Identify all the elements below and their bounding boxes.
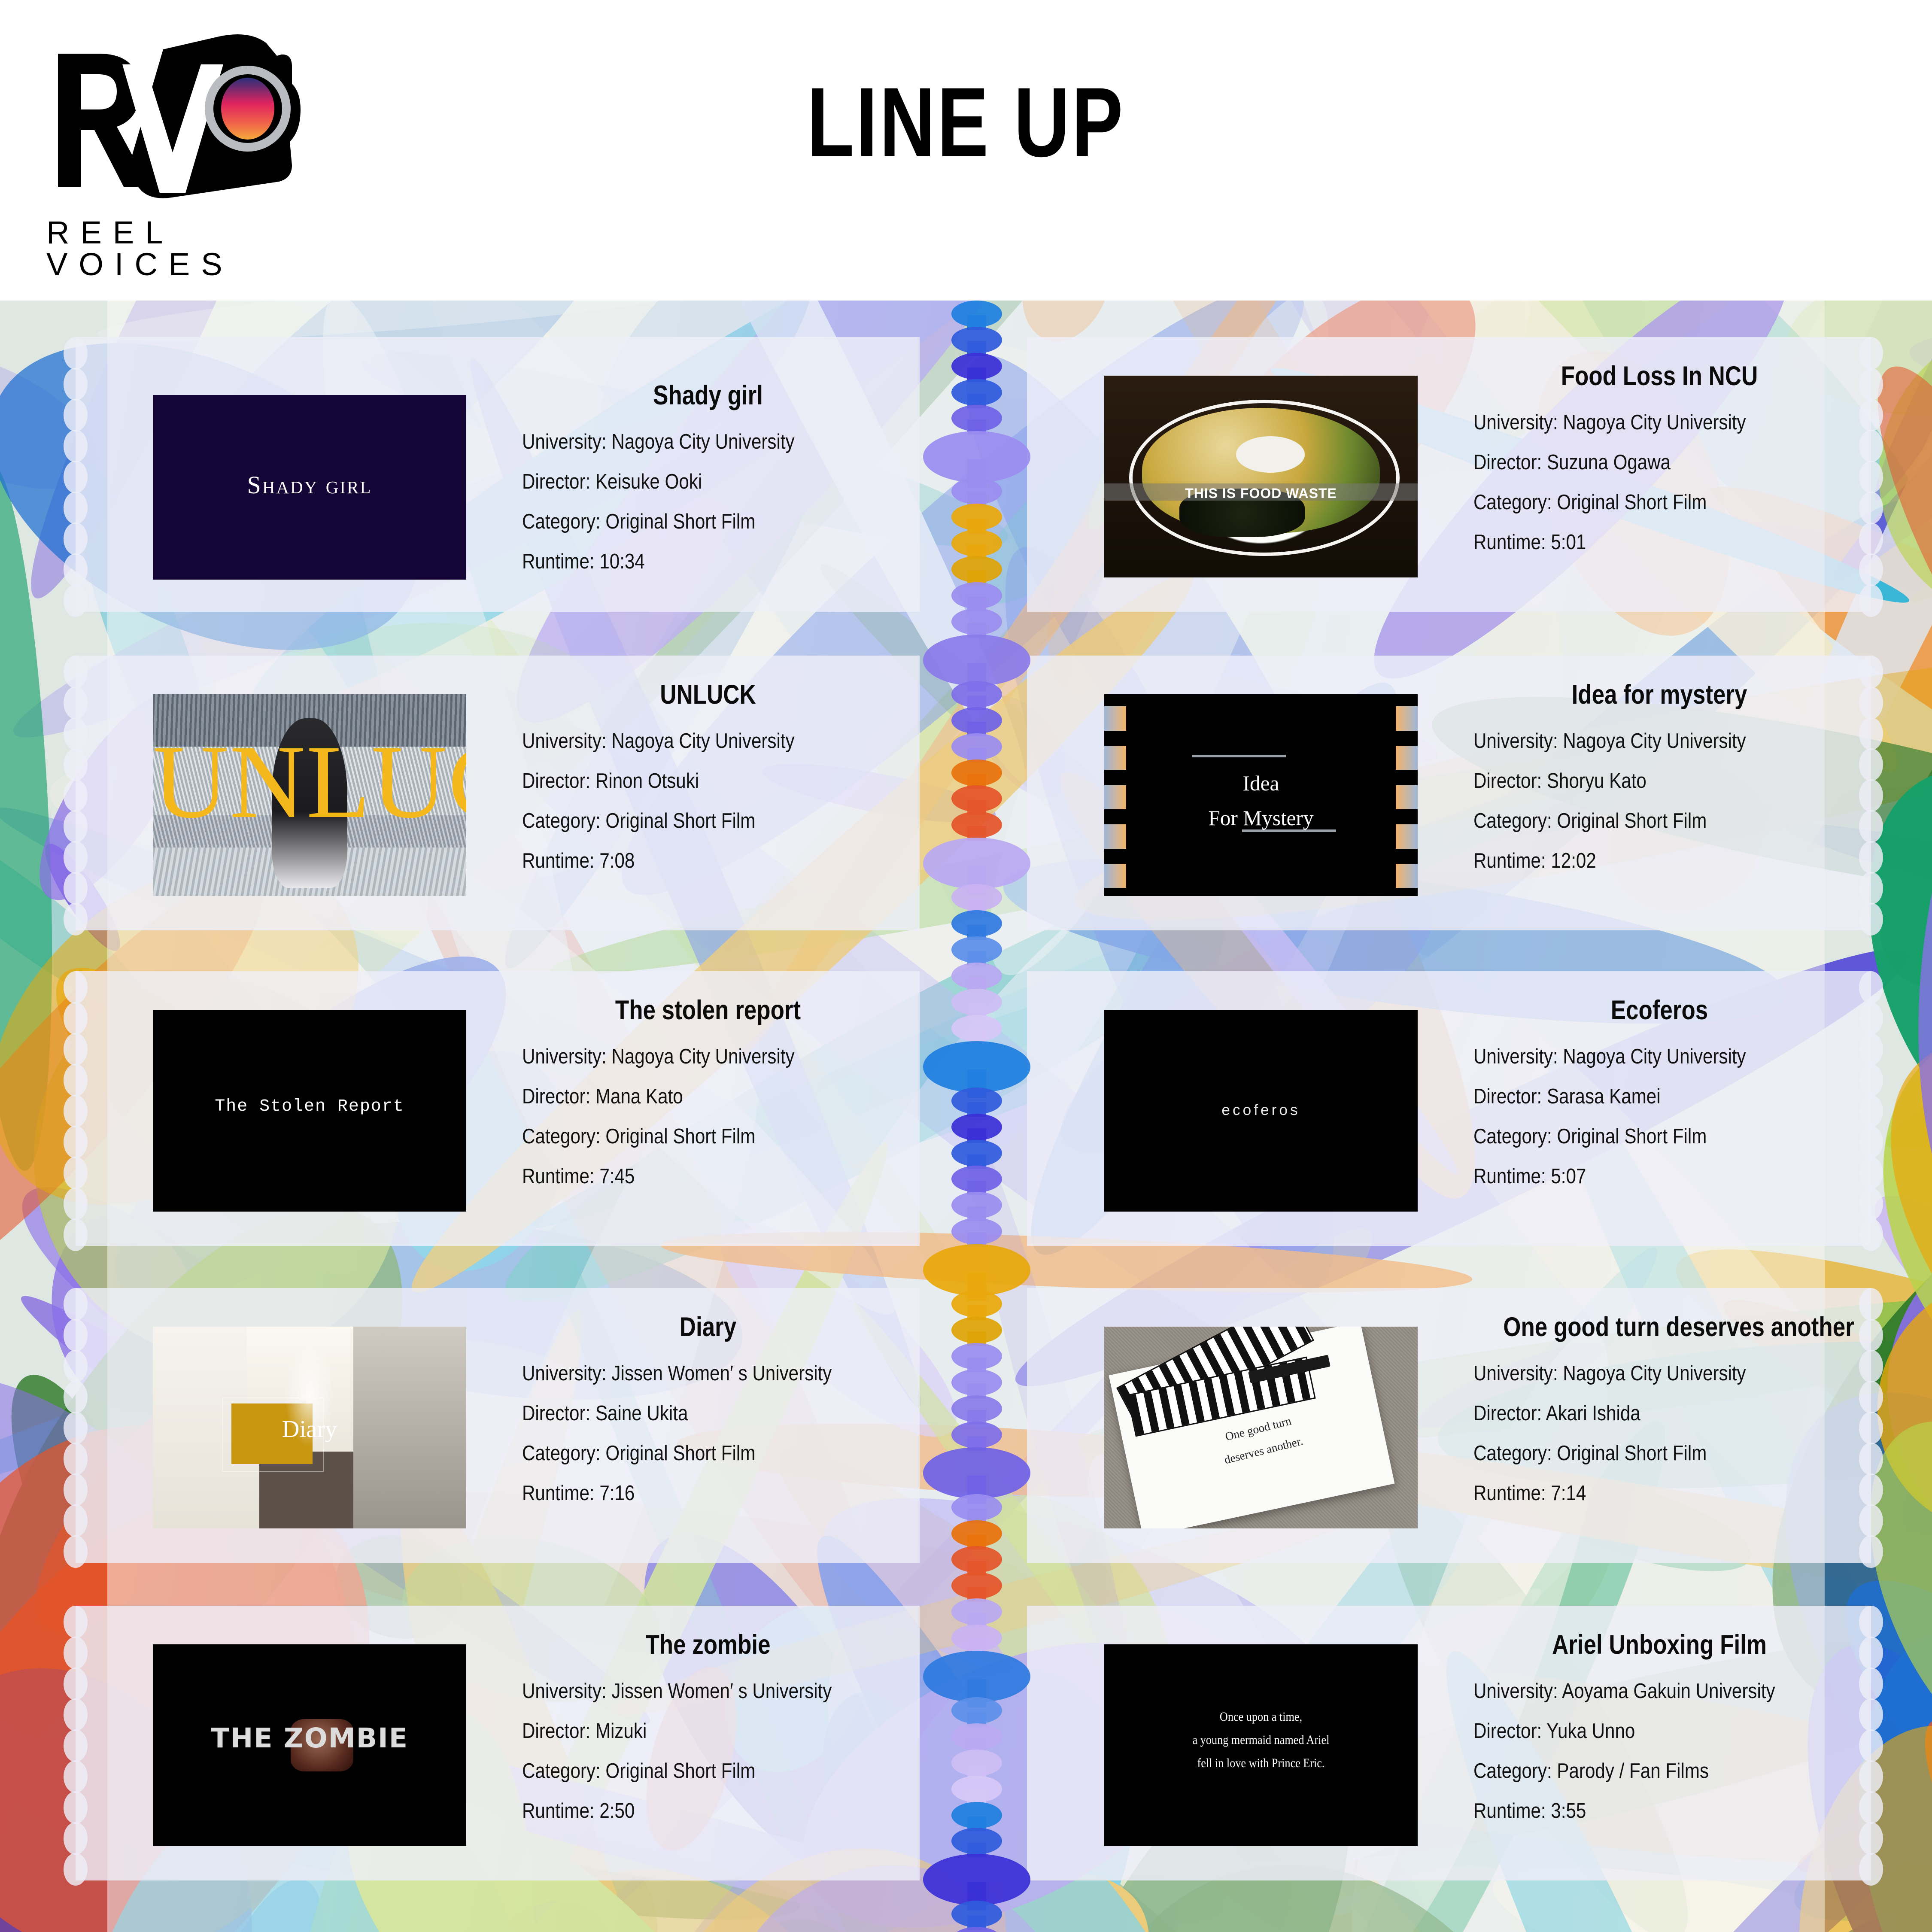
runtime-label: Runtime: bbox=[522, 550, 595, 573]
film-runtime: Runtime: 12:02 bbox=[1473, 851, 1793, 872]
university-label: University: bbox=[1473, 1680, 1558, 1703]
category-value: Original Short Film bbox=[1557, 1125, 1707, 1148]
category-label: Category: bbox=[1473, 491, 1552, 514]
category-label: Category: bbox=[522, 510, 601, 533]
film-title: One good turn deserves another bbox=[1503, 1314, 1815, 1341]
university-value: Nagoya City University bbox=[1563, 1362, 1746, 1385]
film-meta: Ariel Unboxing Film University: Aoyama G… bbox=[1473, 1631, 1845, 1822]
director-label: Director: bbox=[522, 1719, 590, 1743]
film-director: Director: Keisuke Ooki bbox=[522, 471, 842, 492]
university-label: University: bbox=[1473, 1045, 1558, 1068]
film-thumbnail[interactable]: IdeaFor Mystery bbox=[1104, 694, 1418, 896]
category-label: Category: bbox=[1473, 809, 1552, 832]
film-director: Director: Mizuki bbox=[522, 1721, 842, 1742]
category-label: Category: bbox=[522, 1442, 601, 1465]
film-director: Director: Saine Ukita bbox=[522, 1403, 842, 1424]
film-university: University: Aoyama Gakuin University bbox=[1473, 1681, 1793, 1702]
film-meta: Shady girl University: Nagoya City Unive… bbox=[522, 382, 894, 572]
film-title: Food Loss In NCU bbox=[1503, 363, 1815, 390]
film-university: University: Jissen Women′ s University bbox=[522, 1681, 842, 1702]
film-category: Category: Original Short Film bbox=[522, 1443, 842, 1464]
university-value: Nagoya City University bbox=[611, 430, 794, 453]
runtime-value: 12:02 bbox=[1551, 849, 1596, 872]
university-label: University: bbox=[1473, 1362, 1558, 1385]
university-value: Nagoya City University bbox=[611, 729, 794, 753]
runtime-value: 5:01 bbox=[1551, 531, 1586, 554]
university-value: Nagoya City University bbox=[611, 1045, 794, 1068]
director-value: Suzuna Ogawa bbox=[1547, 451, 1671, 474]
film-thumbnail[interactable]: The Stolen Report bbox=[153, 1010, 466, 1212]
runtime-value: 2:50 bbox=[599, 1799, 635, 1823]
director-label: Director: bbox=[522, 1402, 590, 1425]
director-label: Director: bbox=[522, 470, 590, 493]
director-value: Saine Ukita bbox=[595, 1402, 688, 1425]
runtime-value: 10:34 bbox=[599, 550, 644, 573]
film-card[interactable]: ecoferos Ecoferos University: Nagoya Cit… bbox=[1027, 971, 1871, 1246]
page-title: LINE UP bbox=[213, 73, 1719, 172]
university-label: University: bbox=[522, 430, 607, 453]
film-university: University: Nagoya City University bbox=[1473, 731, 1793, 752]
thumbnail-title-text: Once upon a time,a young mermaid named A… bbox=[1120, 1706, 1402, 1775]
director-label: Director: bbox=[522, 1085, 590, 1108]
film-title: Ariel Unboxing Film bbox=[1503, 1631, 1815, 1659]
film-meta: Diary University: Jissen Women′ s Univer… bbox=[522, 1314, 894, 1504]
director-label: Director: bbox=[1473, 451, 1542, 474]
film-title: The zombie bbox=[552, 1631, 864, 1659]
chain-bead bbox=[951, 1927, 1002, 1932]
runtime-label: Runtime: bbox=[522, 1165, 595, 1188]
director-value: Mana Kato bbox=[595, 1085, 683, 1108]
thumbnail-title-text: IdeaFor Mystery bbox=[1104, 766, 1418, 836]
director-value: Mizuki bbox=[595, 1719, 647, 1743]
film-title: The stolen report bbox=[552, 997, 864, 1024]
director-label: Director: bbox=[1473, 1719, 1542, 1743]
film-category: Category: Parody / Fan Films bbox=[1473, 1761, 1793, 1782]
category-value: Original Short Film bbox=[605, 809, 755, 832]
runtime-label: Runtime: bbox=[1473, 849, 1546, 872]
film-card[interactable]: The Stolen Report The stolen report Univ… bbox=[76, 971, 920, 1246]
film-category: Category: Original Short Film bbox=[1473, 492, 1793, 513]
film-director: Director: Sarasa Kamei bbox=[1473, 1086, 1793, 1107]
university-value: Jissen Women′ s University bbox=[611, 1680, 832, 1703]
film-university: University: Nagoya City University bbox=[1473, 1046, 1793, 1067]
category-value: Parody / Fan Films bbox=[1557, 1759, 1709, 1783]
film-thumbnail[interactable]: Shady girl bbox=[153, 395, 466, 580]
university-value: Nagoya City University bbox=[1563, 729, 1746, 753]
director-value: Sarasa Kamei bbox=[1547, 1085, 1661, 1108]
category-value: Original Short Film bbox=[605, 510, 755, 533]
film-runtime: Runtime: 7:16 bbox=[522, 1483, 842, 1504]
runtime-value: 7:16 bbox=[599, 1482, 635, 1505]
film-director: Director: Akari Ishida bbox=[1473, 1403, 1793, 1424]
thumbnail-title-text: ecoferos bbox=[1104, 1102, 1418, 1119]
category-label: Category: bbox=[522, 809, 601, 832]
thumbnail-title-text: THIS IS FOOD WASTE bbox=[1104, 486, 1418, 501]
film-runtime: Runtime: 5:07 bbox=[1473, 1166, 1793, 1187]
runtime-label: Runtime: bbox=[522, 1799, 595, 1823]
university-value: Aoyama Gakuin University bbox=[1562, 1680, 1775, 1703]
film-runtime: Runtime: 10:34 bbox=[522, 551, 842, 572]
director-label: Director: bbox=[1473, 1402, 1542, 1425]
film-meta: Idea for mystery University: Nagoya City… bbox=[1473, 681, 1845, 872]
film-university: University: Nagoya City University bbox=[522, 731, 842, 752]
runtime-label: Runtime: bbox=[1473, 531, 1546, 554]
runtime-value: 7:45 bbox=[599, 1165, 635, 1188]
film-university: University: Nagoya City University bbox=[1473, 1363, 1793, 1384]
film-card[interactable]: Shady girl Shady girl University: Nagoya… bbox=[76, 337, 920, 612]
runtime-value: 5:07 bbox=[1551, 1165, 1586, 1188]
category-value: Original Short Film bbox=[605, 1759, 755, 1783]
runtime-value: 7:08 bbox=[599, 849, 635, 872]
university-label: University: bbox=[1473, 729, 1558, 753]
film-university: University: Jissen Women′ s University bbox=[522, 1363, 842, 1384]
center-bead-chain-decoration bbox=[921, 301, 1033, 1932]
film-title: Idea for mystery bbox=[1503, 681, 1815, 708]
thumbnail-title-text: THE ZOMBIE bbox=[153, 1722, 466, 1754]
lineup-poster: Shady girl Shady girl University: Nagoya… bbox=[0, 0, 1932, 1932]
category-label: Category: bbox=[522, 1759, 601, 1783]
university-label: University: bbox=[1473, 411, 1558, 434]
thumbnail-title-text: Shady girl bbox=[153, 471, 466, 499]
director-value: Rinon Otsuki bbox=[595, 769, 699, 793]
category-label: Category: bbox=[1473, 1759, 1552, 1783]
poster-header: REEL VOICES LINE UP bbox=[0, 0, 1932, 301]
category-value: Original Short Film bbox=[605, 1125, 755, 1148]
film-card[interactable]: Once upon a time,a young mermaid named A… bbox=[1027, 1606, 1871, 1880]
film-card[interactable]: IdeaFor Mystery Idea for mystery Univers… bbox=[1027, 656, 1871, 930]
film-runtime: Runtime: 2:50 bbox=[522, 1801, 842, 1822]
runtime-value: 3:55 bbox=[1551, 1799, 1586, 1823]
film-meta: The stolen report University: Nagoya Cit… bbox=[522, 997, 894, 1187]
university-label: University: bbox=[522, 1362, 607, 1385]
runtime-value: 7:14 bbox=[1551, 1482, 1586, 1505]
director-label: Director: bbox=[1473, 769, 1542, 793]
category-label: Category: bbox=[1473, 1442, 1552, 1465]
film-category: Category: Original Short Film bbox=[1473, 811, 1793, 832]
category-value: Original Short Film bbox=[1557, 491, 1707, 514]
film-category: Category: Original Short Film bbox=[1473, 1443, 1793, 1464]
film-thumbnail[interactable]: Diary bbox=[153, 1327, 466, 1528]
thumbnail-title-text: Diary bbox=[153, 1416, 466, 1443]
film-title: Ecoferos bbox=[1503, 997, 1815, 1024]
film-director: Director: Yuka Unno bbox=[1473, 1721, 1793, 1742]
film-runtime: Runtime: 3:55 bbox=[1473, 1801, 1793, 1822]
film-category: Category: Original Short Film bbox=[522, 811, 842, 832]
film-meta: One good turn deserves another Universit… bbox=[1473, 1314, 1845, 1504]
film-thumbnail[interactable]: One good turndeserves another. bbox=[1104, 1327, 1418, 1528]
film-thumbnail[interactable]: THE ZOMBIE bbox=[153, 1644, 466, 1846]
film-meta: Ecoferos University: Nagoya City Univers… bbox=[1473, 997, 1845, 1187]
director-value: Yuka Unno bbox=[1546, 1719, 1635, 1743]
film-category: Category: Original Short Film bbox=[1473, 1126, 1793, 1147]
film-university: University: Nagoya City University bbox=[1473, 412, 1793, 433]
category-value: Original Short Film bbox=[1557, 1442, 1707, 1465]
category-label: Category: bbox=[1473, 1125, 1552, 1148]
director-value: Akari Ishida bbox=[1546, 1402, 1640, 1425]
runtime-label: Runtime: bbox=[1473, 1165, 1546, 1188]
film-director: Director: Rinon Otsuki bbox=[522, 771, 842, 792]
film-university: University: Nagoya City University bbox=[522, 1046, 842, 1067]
film-card[interactable]: One good turndeserves another. One good … bbox=[1027, 1288, 1871, 1563]
thumbnail-title-text: The Stolen Report bbox=[153, 1097, 466, 1116]
film-thumbnail[interactable]: ecoferos bbox=[1104, 1010, 1418, 1212]
category-value: Original Short Film bbox=[1557, 809, 1707, 832]
film-runtime: Runtime: 7:08 bbox=[522, 851, 842, 872]
director-value: Keisuke Ooki bbox=[595, 470, 702, 493]
runtime-label: Runtime: bbox=[522, 849, 595, 872]
thumbnail-title-text: UNLUCK bbox=[153, 729, 466, 834]
film-title: UNLUCK bbox=[552, 681, 864, 708]
university-value: Nagoya City University bbox=[1563, 1045, 1746, 1068]
film-card[interactable]: UNLUCK UNLUCK University: Nagoya City Un… bbox=[76, 656, 920, 930]
film-title: Shady girl bbox=[552, 382, 864, 409]
university-value: Nagoya City University bbox=[1563, 411, 1746, 434]
film-director: Director: Suzuna Ogawa bbox=[1473, 452, 1793, 473]
film-runtime: Runtime: 5:01 bbox=[1473, 532, 1793, 553]
film-thumbnail[interactable]: UNLUCK bbox=[153, 694, 466, 896]
film-card[interactable]: THIS IS FOOD WASTE Food Loss In NCU Univ… bbox=[1027, 337, 1871, 612]
brand-wordmark: REEL VOICES bbox=[46, 217, 335, 280]
film-card[interactable]: Diary Diary University: Jissen Women′ s … bbox=[76, 1288, 920, 1563]
runtime-label: Runtime: bbox=[1473, 1799, 1546, 1823]
film-meta: The zombie University: Jissen Women′ s U… bbox=[522, 1631, 894, 1822]
director-label: Director: bbox=[522, 769, 590, 793]
category-value: Original Short Film bbox=[605, 1442, 755, 1465]
category-label: Category: bbox=[522, 1125, 601, 1148]
film-runtime: Runtime: 7:14 bbox=[1473, 1483, 1793, 1504]
runtime-label: Runtime: bbox=[522, 1482, 595, 1505]
film-card[interactable]: THE ZOMBIE The zombie University: Jissen… bbox=[76, 1606, 920, 1880]
film-university: University: Nagoya City University bbox=[522, 431, 842, 453]
director-label: Director: bbox=[1473, 1085, 1542, 1108]
film-director: Director: Mana Kato bbox=[522, 1086, 842, 1107]
film-category: Category: Original Short Film bbox=[522, 1126, 842, 1147]
film-thumbnail[interactable]: THIS IS FOOD WASTE bbox=[1104, 376, 1418, 577]
film-runtime: Runtime: 7:45 bbox=[522, 1166, 842, 1187]
university-label: University: bbox=[522, 1680, 607, 1703]
runtime-label: Runtime: bbox=[1473, 1482, 1546, 1505]
film-meta: Food Loss In NCU University: Nagoya City… bbox=[1473, 363, 1845, 553]
film-thumbnail[interactable]: Once upon a time,a young mermaid named A… bbox=[1104, 1644, 1418, 1846]
university-label: University: bbox=[522, 729, 607, 753]
university-label: University: bbox=[522, 1045, 607, 1068]
director-value: Shoryu Kato bbox=[1547, 769, 1646, 793]
film-director: Director: Shoryu Kato bbox=[1473, 771, 1793, 792]
film-meta: UNLUCK University: Nagoya City Universit… bbox=[522, 681, 894, 872]
film-title: Diary bbox=[552, 1314, 864, 1341]
film-category: Category: Original Short Film bbox=[522, 511, 842, 532]
film-category: Category: Original Short Film bbox=[522, 1761, 842, 1782]
university-value: Jissen Women′ s University bbox=[611, 1362, 832, 1385]
